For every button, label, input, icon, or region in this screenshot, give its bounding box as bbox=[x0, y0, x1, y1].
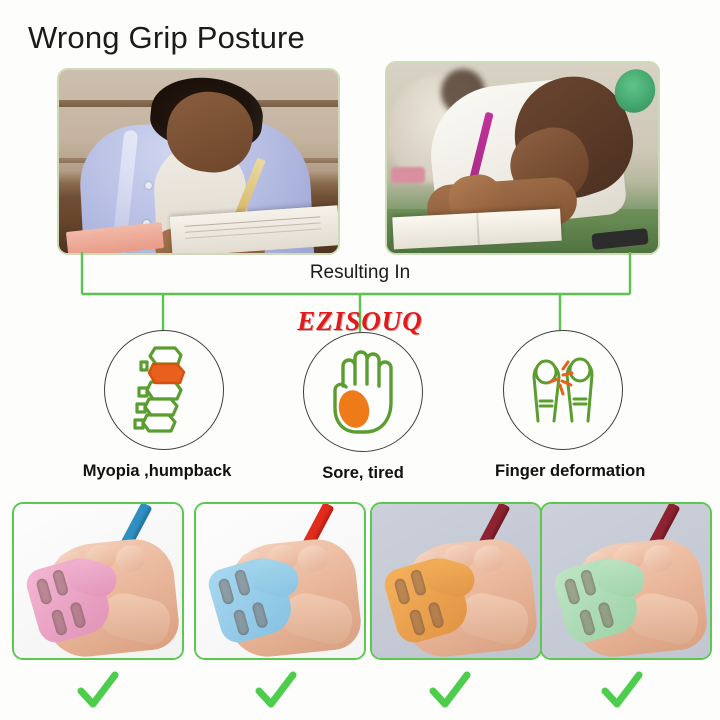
resulting-in-label: Resulting In bbox=[0, 262, 720, 284]
product-photo-orange-grip bbox=[370, 502, 542, 660]
symptom-label: Myopia ,humpback bbox=[82, 462, 232, 481]
photo-panel-wrong-posture-right bbox=[385, 61, 660, 255]
hand-icon bbox=[321, 346, 405, 438]
check-icon bbox=[600, 670, 644, 712]
symptom-circle bbox=[303, 332, 423, 452]
symptom-circle bbox=[104, 330, 224, 450]
symptom-finger-deformation: Finger deformation bbox=[495, 330, 631, 481]
fingers-icon bbox=[520, 345, 606, 435]
symptom-circle bbox=[503, 330, 623, 450]
check-icon bbox=[428, 670, 472, 712]
symptom-label: Finger deformation bbox=[495, 462, 631, 481]
check-icon bbox=[76, 670, 120, 712]
spine-icon bbox=[125, 342, 203, 438]
girl-head-on-desk-illustration bbox=[387, 63, 658, 253]
product-photo-mint-grip bbox=[540, 502, 712, 660]
check-icon bbox=[254, 670, 298, 712]
photo-panel-wrong-posture-left bbox=[57, 68, 340, 255]
product-photo-blue-grip bbox=[194, 502, 366, 660]
symptom-myopia-humpback: Myopia ,humpback bbox=[96, 330, 232, 481]
boy-hunched-writing-illustration bbox=[59, 70, 338, 253]
product-photo-pink-grip bbox=[12, 502, 184, 660]
symptom-sore-tired: Sore, tired bbox=[295, 332, 431, 483]
page-title: Wrong Grip Posture bbox=[28, 18, 305, 58]
symptom-label: Sore, tired bbox=[295, 464, 431, 483]
